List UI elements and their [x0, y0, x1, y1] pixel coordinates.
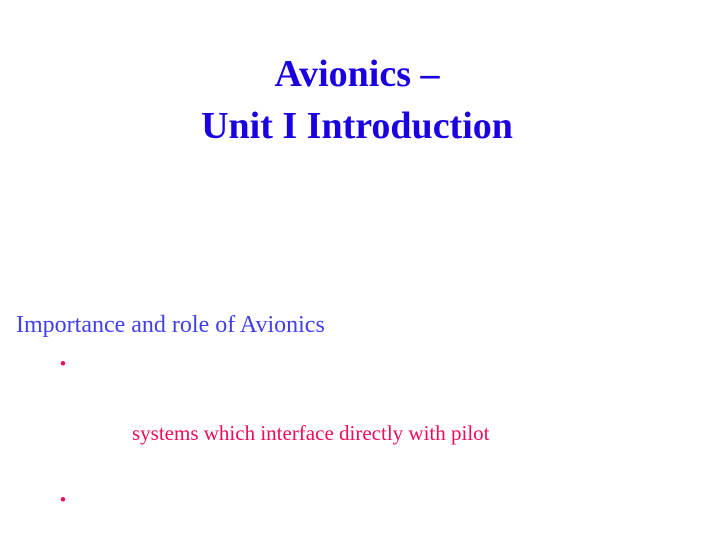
- list-item: • Aircraft state sensor systems: [16, 484, 706, 540]
- bullet-list: • systems which interface directly with …: [16, 348, 706, 540]
- list-item-label: systems which interface directly with pi…: [132, 421, 490, 445]
- presentation-slide: Avionics – Unit I Introduction Importanc…: [0, 0, 720, 540]
- slide-title: Avionics – Unit I Introduction: [0, 48, 714, 152]
- slide-title-line-2: Unit I Introduction: [0, 100, 714, 152]
- bullet-point-icon: •: [57, 348, 69, 382]
- bullet-point-icon: •: [57, 484, 69, 518]
- list-item: • systems which interface directly with …: [16, 348, 706, 484]
- section-heading: Importance and role of Avionics: [16, 310, 706, 340]
- slide-body: Importance and role of Avionics • system…: [16, 310, 706, 540]
- slide-title-line-1: Avionics –: [0, 48, 714, 100]
